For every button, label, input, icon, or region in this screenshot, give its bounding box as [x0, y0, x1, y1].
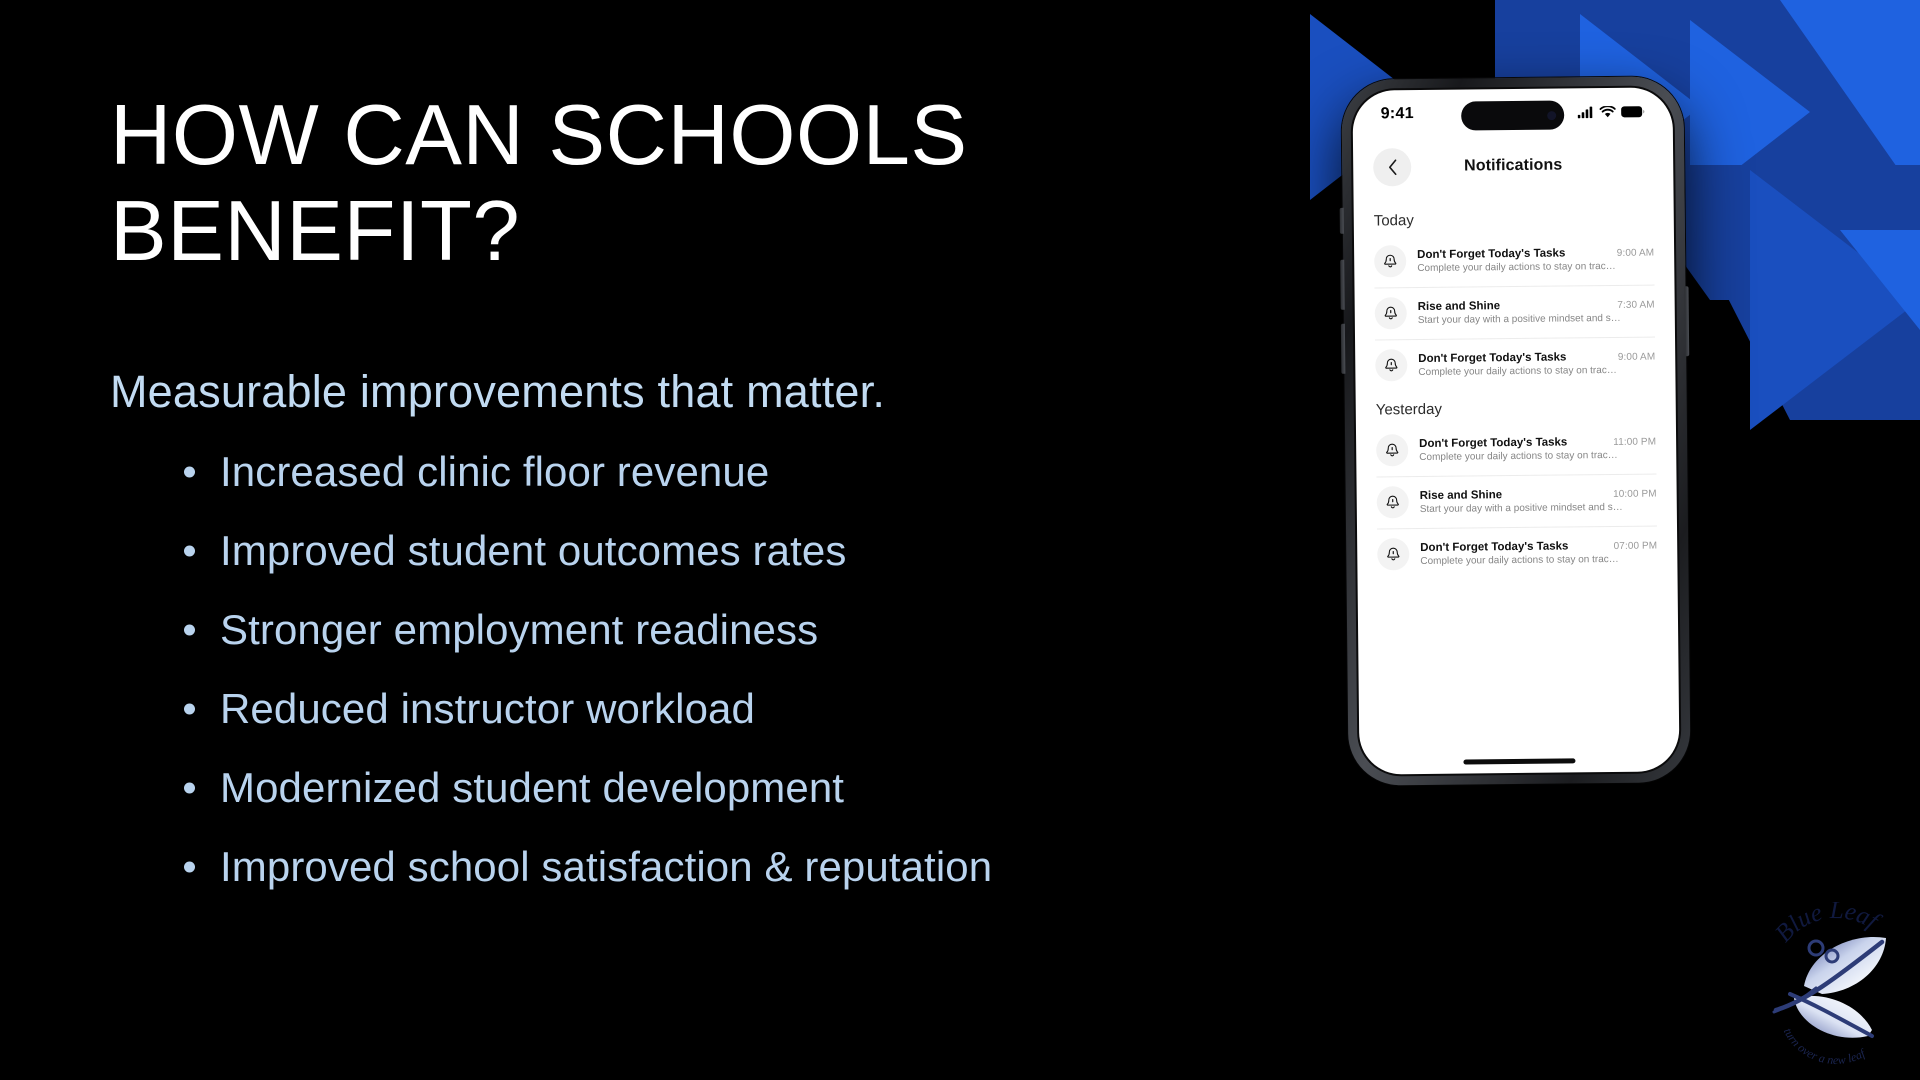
list-item-label: Reduced instructor workload	[220, 685, 755, 732]
wifi-icon	[1600, 106, 1616, 118]
notification-header: Don't Forget Today's Tasks 07:00 PM	[1420, 539, 1657, 553]
battery-icon	[1621, 106, 1645, 118]
slide-subtitle: Measurable improvements that matter.	[110, 366, 1230, 418]
notification-header: Don't Forget Today's Tasks 9:00 AM	[1417, 246, 1654, 260]
list-item-label: Improved student outcomes rates	[220, 527, 846, 574]
nav-bar: Notifications	[1353, 135, 1674, 196]
bullet-dot-icon	[184, 546, 195, 557]
notification-row[interactable]: Don't Forget Today's Tasks 9:00 AM Compl…	[1355, 336, 1676, 391]
bell-glyph-icon	[1384, 442, 1400, 458]
silent-switch[interactable]	[1340, 208, 1344, 234]
section-header-yesterday: Yesterday	[1356, 388, 1676, 424]
notification-body: Don't Forget Today's Tasks 11:00 PM Comp…	[1419, 435, 1656, 462]
chevron-left-icon	[1388, 159, 1397, 175]
screen-title: Notifications	[1464, 157, 1562, 176]
bell-glyph-icon	[1385, 494, 1401, 510]
bullet-dot-icon	[184, 467, 195, 478]
notification-subtitle: Complete your daily actions to stay on t…	[1419, 449, 1656, 462]
notification-header: Don't Forget Today's Tasks 11:00 PM	[1419, 435, 1656, 449]
list-item-label: Increased clinic floor revenue	[220, 448, 769, 495]
notification-title: Don't Forget Today's Tasks	[1418, 351, 1566, 365]
volume-up-button[interactable]	[1340, 260, 1345, 310]
bullet-dot-icon	[184, 783, 195, 794]
notification-time: 07:00 PM	[1614, 540, 1658, 551]
notification-list[interactable]: Today Don't For	[1354, 193, 1678, 580]
notification-row[interactable]: Don't Forget Today's Tasks 07:00 PM Comp…	[1357, 525, 1678, 580]
status-bar: 9:41	[1352, 87, 1672, 138]
page-title: HOW CAN SCHOOLS BENEFIT?	[110, 88, 1230, 280]
bell-glyph-icon	[1385, 546, 1401, 562]
notification-header: Don't Forget Today's Tasks 9:00 AM	[1418, 350, 1655, 364]
phone-screen: 9:41	[1352, 87, 1679, 774]
notification-row[interactable]: Rise and Shine 7:30 AM Start your day wi…	[1354, 284, 1675, 339]
notification-header: Rise and Shine 10:00 PM	[1420, 487, 1657, 501]
notification-subtitle: Start your day with a positive mindset a…	[1418, 312, 1655, 325]
notification-row[interactable]: Don't Forget Today's Tasks 9:00 AM Compl…	[1354, 232, 1675, 287]
list-item: Increased clinic floor revenue	[178, 448, 1230, 496]
presentation-slide: HOW CAN SCHOOLS BENEFIT? Measurable impr…	[0, 0, 1920, 1080]
bell-icon	[1376, 434, 1408, 466]
notification-title: Don't Forget Today's Tasks	[1419, 436, 1567, 450]
notification-title: Don't Forget Today's Tasks	[1420, 540, 1568, 554]
volume-down-button[interactable]	[1341, 324, 1346, 374]
bell-icon	[1375, 297, 1407, 329]
list-item-label: Modernized student development	[220, 764, 844, 811]
brand-logo: Blue Leaf turn over a new leaf	[1760, 902, 1912, 1074]
notification-body: Don't Forget Today's Tasks 9:00 AM Compl…	[1418, 350, 1655, 377]
slide-content: HOW CAN SCHOOLS BENEFIT? Measurable impr…	[110, 88, 1230, 891]
notification-subtitle: Complete your daily actions to stay on t…	[1418, 364, 1655, 377]
notification-subtitle: Start your day with a positive mindset a…	[1420, 501, 1657, 514]
notification-subtitle: Complete your daily actions to stay on t…	[1420, 553, 1657, 566]
status-bar-time: 9:41	[1381, 105, 1414, 123]
bell-icon	[1377, 486, 1409, 518]
bell-glyph-icon	[1383, 305, 1399, 321]
notification-time: 9:00 AM	[1617, 247, 1655, 258]
power-button[interactable]	[1684, 286, 1689, 356]
notification-body: Rise and Shine 10:00 PM Start your day w…	[1420, 487, 1657, 514]
notification-row[interactable]: Rise and Shine 10:00 PM Start your day w…	[1356, 473, 1677, 528]
notification-time: 11:00 PM	[1613, 436, 1656, 447]
notification-title: Don't Forget Today's Tasks	[1417, 247, 1565, 261]
notification-row[interactable]: Don't Forget Today's Tasks 11:00 PM Comp…	[1356, 421, 1677, 476]
back-button[interactable]	[1373, 148, 1411, 186]
list-item: Improved school satisfaction & reputatio…	[178, 843, 1230, 891]
notification-header: Rise and Shine 7:30 AM	[1418, 298, 1655, 312]
list-item: Modernized student development	[178, 764, 1230, 812]
device-showcase-panel: 9:41	[1280, 0, 1920, 1080]
status-bar-icons	[1578, 106, 1645, 119]
notification-title: Rise and Shine	[1420, 489, 1503, 502]
section-header-today: Today	[1354, 199, 1674, 235]
home-indicator[interactable]	[1463, 758, 1575, 764]
phone-bezel: 9:41	[1350, 85, 1681, 776]
bell-icon	[1377, 538, 1409, 570]
notification-subtitle: Complete your daily actions to stay on t…	[1417, 260, 1654, 273]
benefits-list: Increased clinic floor revenue Improved …	[178, 448, 1230, 891]
bullet-dot-icon	[184, 862, 195, 873]
iphone-mockup: 9:41	[1341, 76, 1690, 786]
notification-time: 10:00 PM	[1613, 488, 1657, 499]
bell-icon	[1375, 349, 1407, 381]
notification-body: Rise and Shine 7:30 AM Start your day wi…	[1418, 298, 1655, 325]
dynamic-island	[1461, 100, 1564, 130]
list-item: Improved student outcomes rates	[178, 527, 1230, 575]
cellular-signal-icon	[1578, 106, 1595, 118]
list-item: Reduced instructor workload	[178, 685, 1230, 733]
list-item-label: Improved school satisfaction & reputatio…	[220, 843, 992, 890]
notification-body: Don't Forget Today's Tasks 9:00 AM Compl…	[1417, 246, 1654, 273]
notification-time: 7:30 AM	[1617, 299, 1655, 310]
list-item: Stronger employment readiness	[178, 606, 1230, 654]
bell-glyph-icon	[1382, 253, 1398, 269]
bell-icon	[1374, 245, 1406, 277]
notification-title: Rise and Shine	[1418, 300, 1501, 313]
notification-body: Don't Forget Today's Tasks 07:00 PM Comp…	[1420, 539, 1657, 566]
front-camera-icon	[1547, 111, 1556, 120]
bullet-dot-icon	[184, 625, 195, 636]
bullet-dot-icon	[184, 704, 195, 715]
notification-time: 9:00 AM	[1618, 351, 1656, 362]
list-item-label: Stronger employment readiness	[220, 606, 818, 653]
bell-glyph-icon	[1383, 357, 1399, 373]
